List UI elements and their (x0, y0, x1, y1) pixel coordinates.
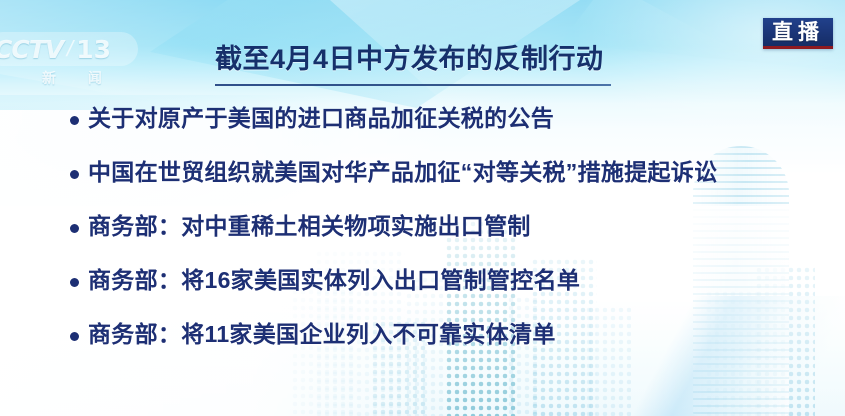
broadcast-graphic: CCTV / 13 新 闻 直播 截至4月4日中方发布的反制行动 关于对原产于美… (0, 0, 845, 416)
cctv-channel-logo: CCTV / 13 (0, 32, 138, 66)
bullet-dot-icon (70, 278, 79, 287)
page-title: 截至4月4日中方发布的反制行动 (215, 44, 604, 75)
list-item: 商务部：对中重稀土相关物项实施出口管制 (70, 212, 825, 266)
list-item: 中国在世贸组织就美国对华产品加征“对等关税”措施提起诉讼 (70, 158, 825, 212)
list-item: 关于对原产于美国的进口商品加征关税的公告 (70, 104, 825, 158)
live-badge: 直播 (763, 18, 833, 49)
list-item-label: 商务部：将11家美国企业列入不可靠实体清单 (88, 320, 556, 348)
list-item: 商务部：将16家美国实体列入出口管制管控名单 (70, 266, 825, 320)
cctv-channel-number: 13 (76, 35, 111, 64)
list-item-label: 中国在世贸组织就美国对华产品加征“对等关税”措施提起诉讼 (88, 158, 717, 186)
list-item-label: 商务部：将16家美国实体列入出口管制管控名单 (88, 266, 580, 294)
cctv-wordmark: CCTV (0, 35, 63, 64)
bullet-dot-icon (70, 170, 79, 179)
title-underline (215, 84, 611, 86)
cctv-channel-subtitle: 新 闻 (42, 68, 116, 88)
list-item-label: 商务部：对中重稀土相关物项实施出口管制 (88, 212, 531, 240)
bullet-list: 关于对原产于美国的进口商品加征关税的公告 中国在世贸组织就美国对华产品加征“对等… (70, 104, 825, 374)
live-badge-label: 直播 (772, 22, 824, 43)
bullet-dot-icon (70, 224, 79, 233)
bullet-dot-icon (70, 116, 79, 125)
bullet-dot-icon (70, 332, 79, 341)
logo-slash-icon: / (64, 36, 76, 62)
list-item: 商务部：将11家美国企业列入不可靠实体清单 (70, 320, 825, 374)
list-item-label: 关于对原产于美国的进口商品加征关税的公告 (88, 104, 554, 132)
